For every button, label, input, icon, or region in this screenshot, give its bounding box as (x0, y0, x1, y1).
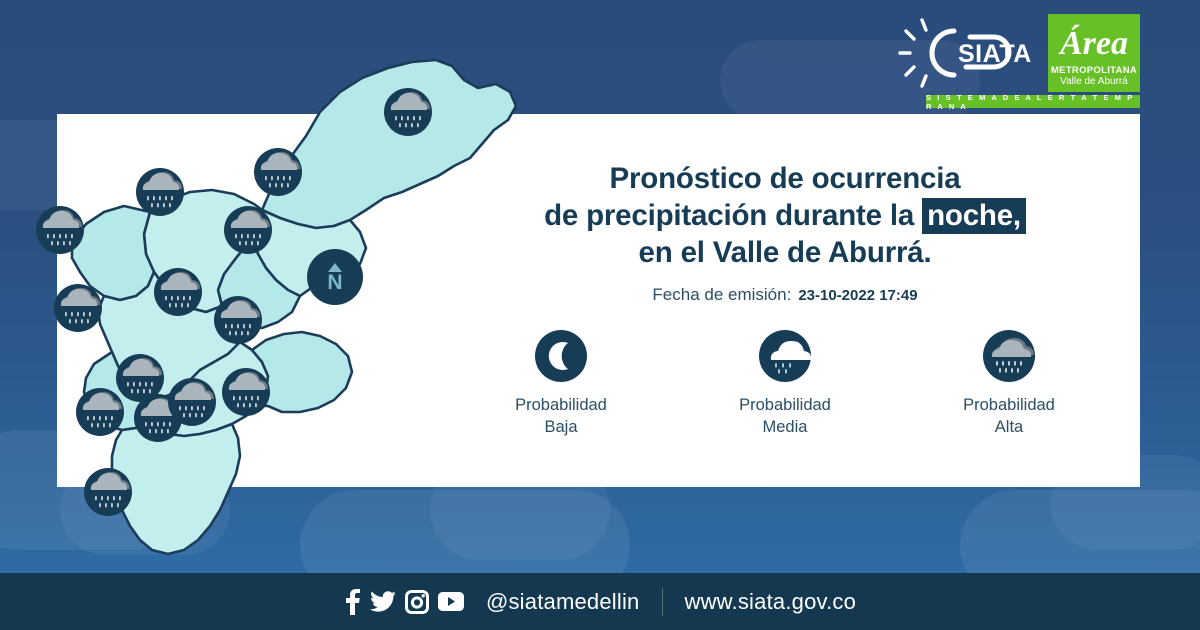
youtube-icon[interactable] (438, 592, 464, 611)
area-script-icon: Área (1048, 16, 1140, 66)
legend-item-media: Probabilidad Media (705, 330, 865, 438)
instagram-icon[interactable] (405, 590, 429, 614)
title-line-3: en el Valle de Aburrá. (470, 234, 1100, 271)
compass-letter: N (327, 273, 342, 292)
legend-label-baja-1: Probabilidad (481, 394, 641, 416)
twitter-icon[interactable] (370, 591, 396, 613)
title-line-2: de precipitación durante la noche, (470, 197, 1100, 234)
legend-label-media-1: Probabilidad (705, 394, 865, 416)
moon-cloud-rain-icon (759, 330, 811, 382)
siata-logo: SIATA (898, 17, 1038, 89)
legend-label-alta-1: Probabilidad (929, 394, 1089, 416)
social-links[interactable] (344, 589, 464, 615)
north-arrow-icon: N (307, 249, 363, 305)
brand-logos: SIATA Área METROPOLITANA Valle de Aburrá… (898, 14, 1140, 108)
area-line1: METROPOLITANA (1051, 65, 1137, 76)
footer-divider (662, 588, 663, 616)
area-line2: Valle de Aburrá (1060, 76, 1128, 88)
emission-date: Fecha de emisión: 23-10-2022 17:49 (470, 285, 1100, 305)
page-title: Pronóstico de ocurrencia de precipitació… (470, 160, 1100, 271)
legend-item-alta: Probabilidad Alta (929, 330, 1089, 438)
probability-legend: Probabilidad Baja Probabilidad Media (470, 330, 1100, 438)
emission-date-value: 23-10-2022 17:49 (798, 287, 917, 304)
legend-label-alta-2: Alta (929, 416, 1089, 438)
title-line-2-text: de precipitación durante la (544, 199, 922, 232)
tagline-bar: S I S T E M A D E A L E R T A T E M P R … (926, 95, 1140, 108)
svg-text:SIATA: SIATA (958, 40, 1032, 68)
moon-icon (535, 330, 587, 382)
area-metropolitana-logo: Área METROPOLITANA Valle de Aburrá (1048, 14, 1140, 92)
website-url[interactable]: www.siata.gov.co (685, 589, 857, 615)
social-handle[interactable]: @siatamedellin (486, 589, 640, 615)
emission-date-label: Fecha de emisión: (652, 285, 791, 305)
legend-label-baja-2: Baja (481, 416, 641, 438)
facebook-icon[interactable] (344, 589, 361, 615)
area-script-text: Área (1058, 25, 1128, 62)
cloud-heavy-rain-icon (983, 330, 1035, 382)
legend-item-baja: Probabilidad Baja (481, 330, 641, 438)
title-highlight: noche, (922, 198, 1026, 234)
tagline-text: S I S T E M A D E A L E R T A T E M P R … (926, 93, 1140, 111)
legend-label-media-2: Media (705, 416, 865, 438)
footer-bar: @siatamedellin www.siata.gov.co (0, 573, 1200, 630)
headline-block: Pronóstico de ocurrencia de precipitació… (470, 160, 1100, 305)
title-line-1: Pronóstico de ocurrencia (470, 160, 1100, 197)
